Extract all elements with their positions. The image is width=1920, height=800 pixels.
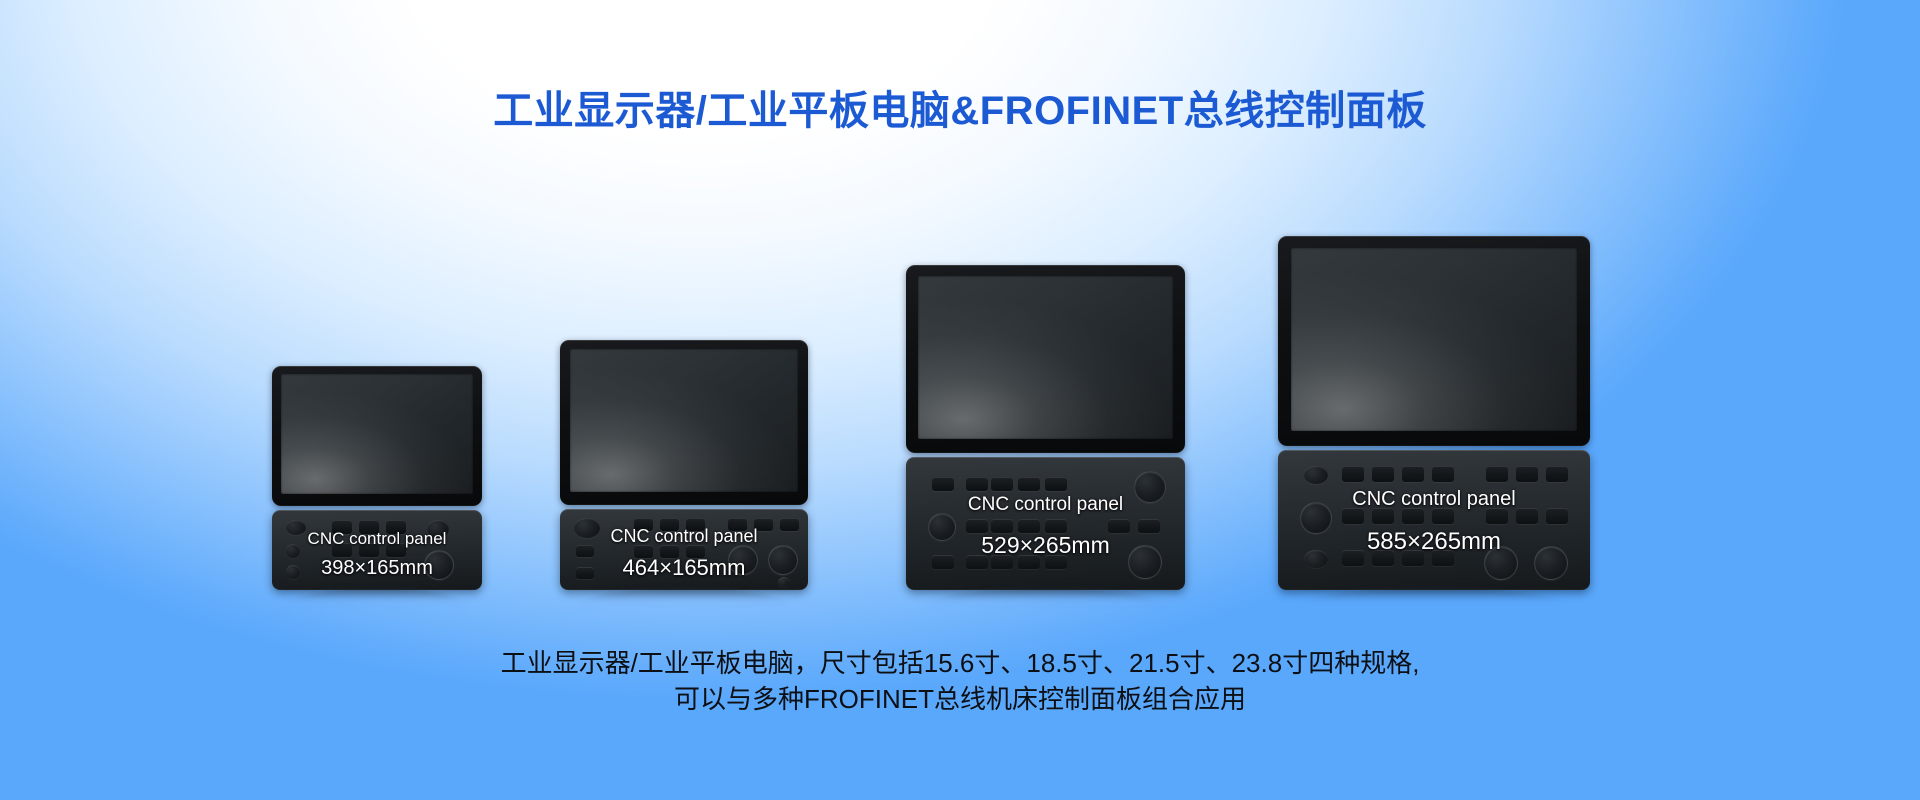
key-button[interactable] xyxy=(1432,466,1454,482)
knob-icon[interactable] xyxy=(286,544,300,558)
key-button[interactable] xyxy=(332,543,352,557)
key-button[interactable] xyxy=(1516,466,1538,482)
key-button[interactable] xyxy=(686,545,705,558)
keypad-4 xyxy=(1278,450,1590,590)
dial-knob-icon[interactable] xyxy=(1128,545,1162,579)
key-button[interactable] xyxy=(686,518,705,531)
key-button[interactable] xyxy=(932,555,954,569)
display-screen-3 xyxy=(918,276,1173,439)
key-button[interactable] xyxy=(1018,477,1040,491)
monitor-unit-4 xyxy=(1278,236,1590,446)
key-button[interactable] xyxy=(1138,519,1160,533)
monitor-unit-2 xyxy=(560,340,808,505)
knob-icon[interactable] xyxy=(286,520,306,535)
device-reflection xyxy=(923,587,1169,609)
key-button[interactable] xyxy=(1516,508,1538,524)
key-button[interactable] xyxy=(1372,508,1394,524)
knob-icon[interactable] xyxy=(1304,550,1328,568)
device-reflection xyxy=(575,587,793,609)
key-button[interactable] xyxy=(359,520,379,534)
key-button[interactable] xyxy=(991,519,1013,533)
control-base-3[interactable]: CNC control panel 529×265mm xyxy=(906,457,1185,590)
key-button[interactable] xyxy=(660,518,679,531)
dial-knob-icon[interactable] xyxy=(768,545,798,575)
key-button[interactable] xyxy=(1432,508,1454,524)
key-button[interactable] xyxy=(1108,519,1130,533)
dial-knob-icon[interactable] xyxy=(1484,546,1518,580)
footer-caption: 工业显示器/工业平板电脑，尺寸包括15.6寸、18.5寸、21.5寸、23.8寸… xyxy=(0,645,1920,717)
device-reflection xyxy=(285,587,470,609)
key-button[interactable] xyxy=(1045,519,1067,533)
key-button[interactable] xyxy=(966,519,988,533)
caption-line-1: 工业显示器/工业平板电脑，尺寸包括15.6寸、18.5寸、21.5寸、23.8寸… xyxy=(0,645,1920,681)
dial-knob-icon[interactable] xyxy=(928,513,956,541)
monitor-unit-3 xyxy=(906,265,1185,453)
key-button[interactable] xyxy=(1432,550,1454,566)
control-base-1[interactable]: CNC control panel 398×165mm xyxy=(272,510,482,590)
display-screen-2 xyxy=(570,349,798,492)
display-screen-1 xyxy=(281,374,473,494)
control-base-4[interactable]: CNC control panel 585×265mm xyxy=(1278,450,1590,590)
knob-icon[interactable] xyxy=(1304,466,1328,484)
key-button[interactable] xyxy=(780,518,799,531)
key-button[interactable] xyxy=(1372,466,1394,482)
key-button[interactable] xyxy=(754,518,773,531)
key-button[interactable] xyxy=(1372,550,1394,566)
key-button[interactable] xyxy=(1342,466,1364,482)
key-button[interactable] xyxy=(1342,550,1364,566)
knob-icon[interactable] xyxy=(574,518,600,538)
key-button[interactable] xyxy=(660,545,679,558)
dial-knob-icon[interactable] xyxy=(1134,471,1166,503)
knob-icon[interactable] xyxy=(778,577,790,587)
key-button[interactable] xyxy=(1045,477,1067,491)
key-button[interactable] xyxy=(1486,466,1508,482)
device-card-2[interactable]: CNC control panel 464×165mm xyxy=(560,340,808,590)
key-button[interactable] xyxy=(1402,508,1424,524)
key-button[interactable] xyxy=(991,477,1013,491)
knob-icon[interactable] xyxy=(427,520,449,538)
key-button[interactable] xyxy=(728,518,747,531)
key-button[interactable] xyxy=(576,545,594,557)
key-button[interactable] xyxy=(966,555,988,569)
key-button[interactable] xyxy=(1018,519,1040,533)
monitor-unit-1 xyxy=(272,366,482,506)
dial-knob-icon[interactable] xyxy=(728,545,758,575)
key-button[interactable] xyxy=(1546,508,1568,524)
key-button[interactable] xyxy=(1018,555,1040,569)
key-button[interactable] xyxy=(1546,466,1568,482)
key-button[interactable] xyxy=(359,543,379,557)
knob-icon[interactable] xyxy=(286,565,300,579)
key-button[interactable] xyxy=(386,543,406,557)
caption-line-2: 可以与多种FROFINET总线机床控制面板组合应用 xyxy=(0,681,1920,717)
device-card-3[interactable]: CNC control panel 529×265mm xyxy=(906,265,1185,590)
key-button[interactable] xyxy=(1342,508,1364,524)
key-button[interactable] xyxy=(634,518,653,531)
keypad-3 xyxy=(906,457,1185,590)
key-button[interactable] xyxy=(1486,508,1508,524)
dial-knob-icon[interactable] xyxy=(1534,546,1568,580)
device-reflection xyxy=(1297,587,1572,609)
device-card-4[interactable]: CNC control panel 585×265mm xyxy=(1278,236,1590,590)
keypad-2 xyxy=(560,509,808,590)
key-button[interactable] xyxy=(991,555,1013,569)
key-button[interactable] xyxy=(634,545,653,558)
key-button[interactable] xyxy=(966,477,988,491)
key-button[interactable] xyxy=(386,520,406,534)
key-button[interactable] xyxy=(332,520,352,534)
key-button[interactable] xyxy=(932,477,954,491)
display-screen-4 xyxy=(1291,248,1577,431)
dial-knob-icon[interactable] xyxy=(424,550,454,580)
key-button[interactable] xyxy=(1402,466,1424,482)
key-button[interactable] xyxy=(1402,550,1424,566)
dial-knob-icon[interactable] xyxy=(1300,502,1332,534)
keypad-1 xyxy=(272,510,482,590)
device-card-1[interactable]: CNC control panel 398×165mm xyxy=(272,366,482,590)
control-base-2[interactable]: CNC control panel 464×165mm xyxy=(560,509,808,590)
key-button[interactable] xyxy=(1045,555,1067,569)
key-button[interactable] xyxy=(576,567,594,579)
